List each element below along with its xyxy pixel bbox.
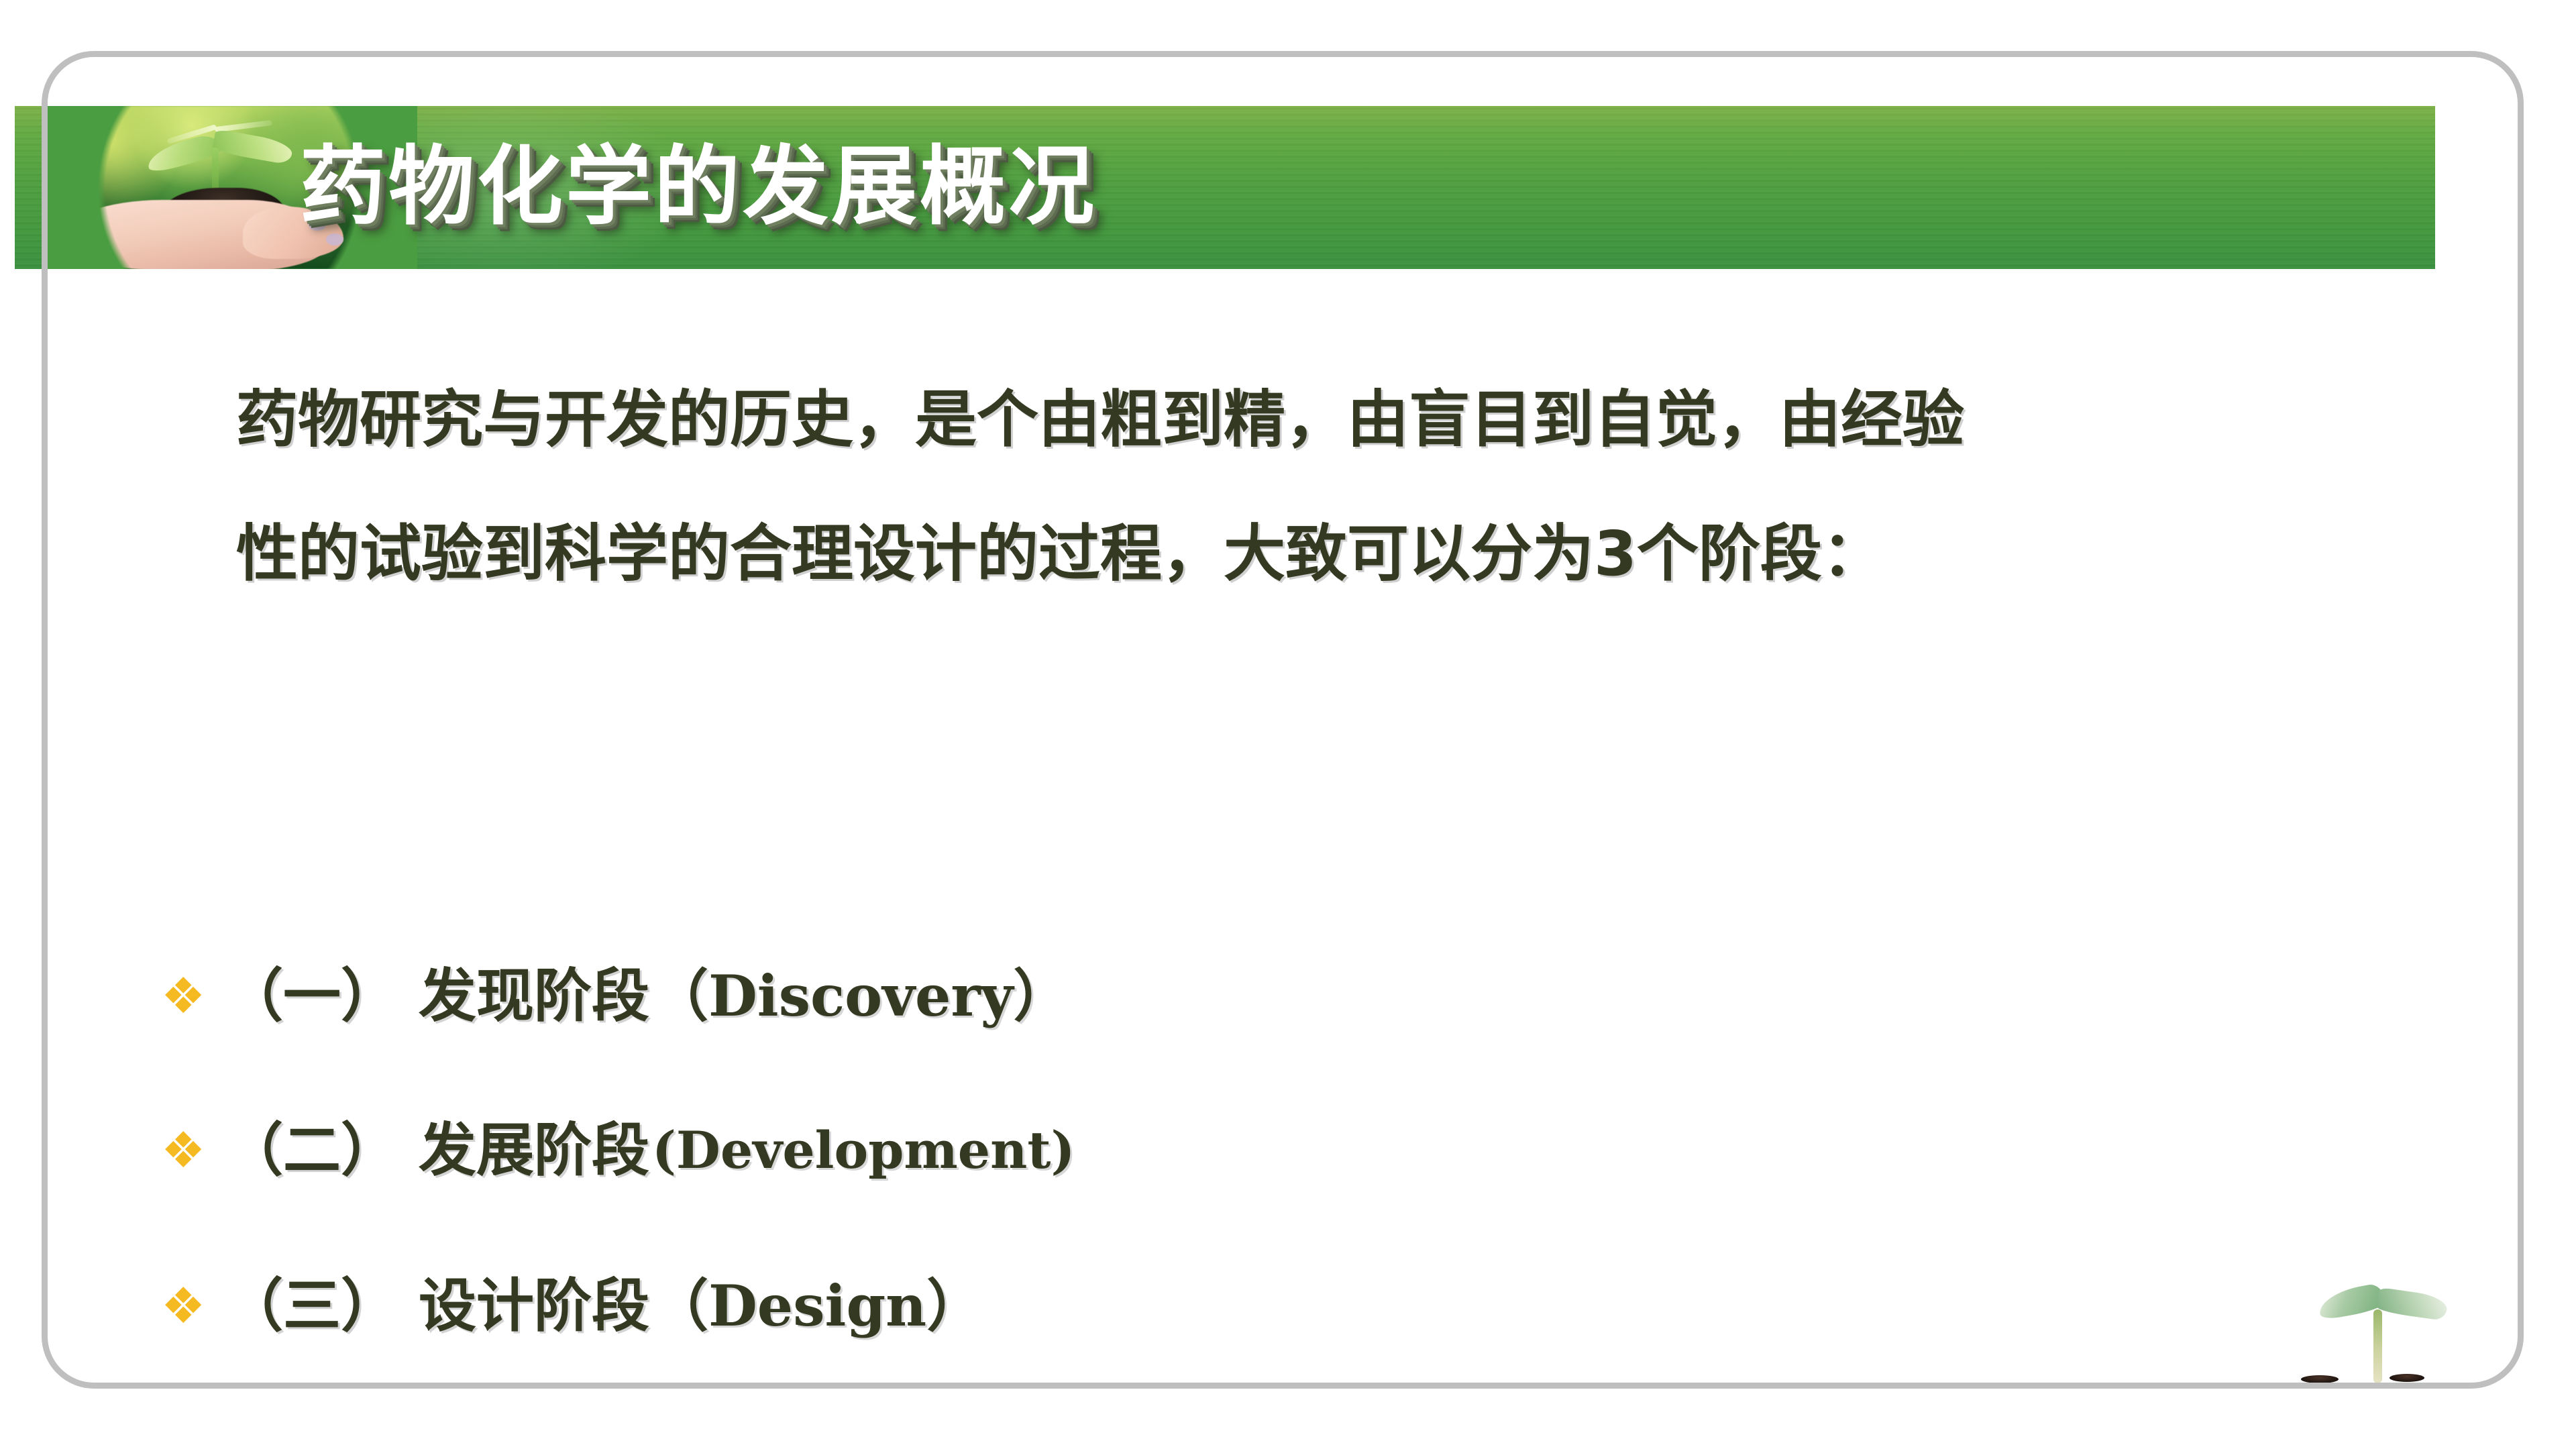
intro-paragraph-line-1: 药物研究与开发的历史，是个由粗到精，由盲目到自觉，由经验 [236, 389, 1964, 451]
diamond-bullet-icon: ❖ [161, 959, 225, 1033]
list-item-label-cn: （二） 发展阶段 [225, 1114, 649, 1187]
list-item-label-en: （Discovery） [652, 959, 1070, 1033]
sprout-stem [2373, 1309, 2382, 1383]
diamond-bullet-icon: ❖ [161, 1269, 225, 1343]
list-item-label-cn: （三） 设计阶段 [225, 1269, 649, 1343]
diamond-bullet-icon: ❖ [161, 1114, 225, 1187]
header-banner: 药物化学的发展概况 [15, 106, 2435, 269]
page-title: 药物化学的发展概况 [300, 117, 1097, 258]
intro-paragraph-line-2: 性的试验到科学的合理设计的过程，大致可以分为3个阶段： [236, 523, 1884, 585]
list-item-label-cn: （一） 发现阶段 [225, 959, 649, 1033]
sprout-soil-right [2390, 1374, 2424, 1382]
list-item[interactable]: ❖ （三） 设计阶段 （Design） [161, 1269, 983, 1343]
slide-canvas: 药物化学的发展概况 药物研究与开发的历史，是个由粗到精，由盲目到自觉，由经验 性… [0, 0, 2576, 1449]
sprout-decoration-icon [2294, 1268, 2482, 1389]
sprout-soil-left [2301, 1375, 2339, 1383]
list-item[interactable]: ❖ （一） 发现阶段 （Discovery） [161, 959, 1070, 1033]
list-item-label-en: （Design） [652, 1269, 983, 1343]
sprout-leaf-right [2376, 1287, 2449, 1321]
list-item-label-en: (Development) [652, 1114, 1075, 1187]
list-item[interactable]: ❖ （二） 发展阶段 (Development) [161, 1114, 1075, 1187]
